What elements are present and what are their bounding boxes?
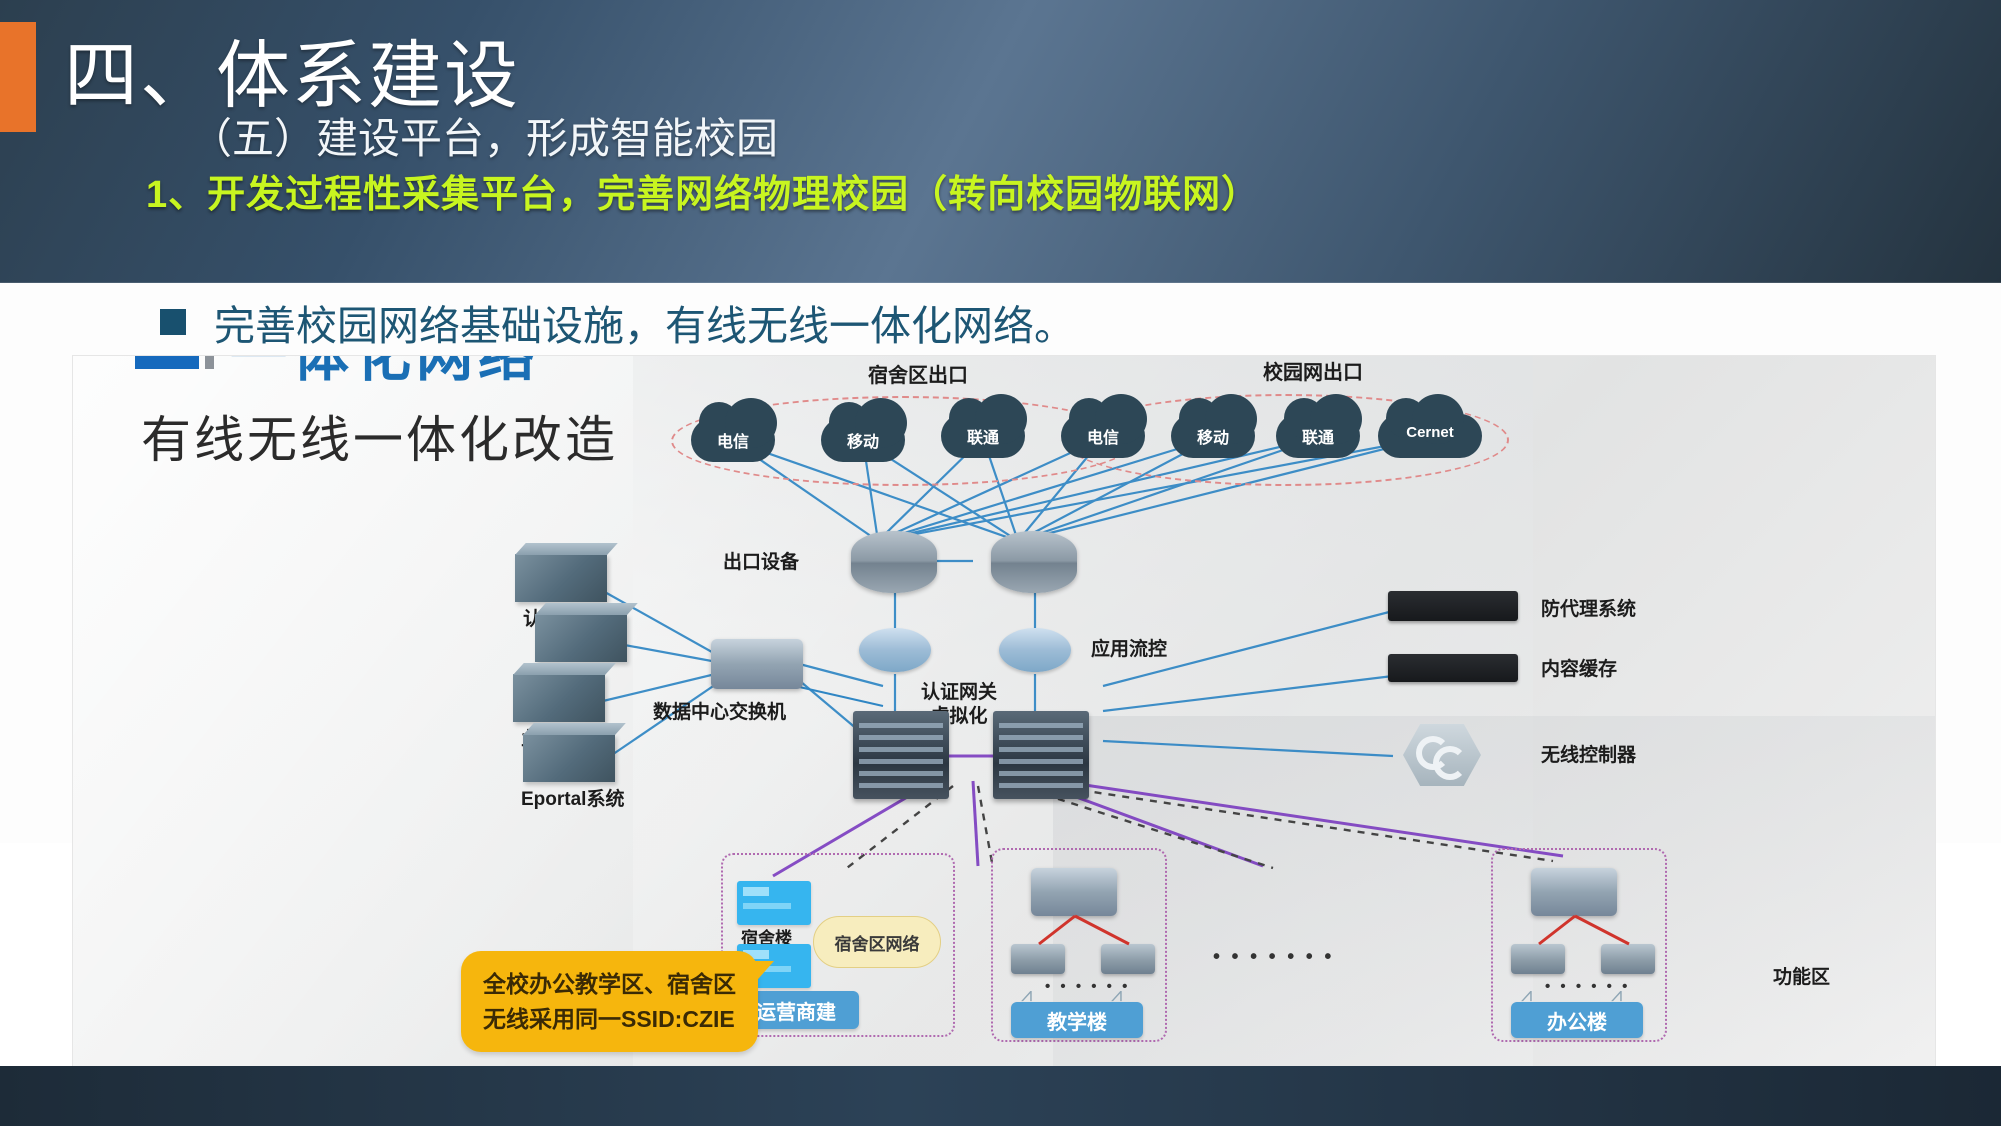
- isp-label: 联通: [1276, 424, 1360, 448]
- brand-title: 一体化网络: [230, 355, 540, 392]
- caption-anti-proxy: 防代理系统: [1541, 598, 1636, 622]
- zone-label-dorm: 宿舍区出口: [868, 359, 968, 388]
- server-eportal: [523, 734, 615, 782]
- zone-separator-dots: • • • • • • •: [1213, 946, 1334, 969]
- egress-router-2: [991, 531, 1077, 593]
- network-diagram: 一体化网络 有线无线一体化改造 宿舍区出口 校园网出口 电信 移动 联通 电信 …: [72, 355, 1936, 1069]
- isp-label: Cernet: [1378, 424, 1482, 441]
- slide-footer: [0, 1066, 2001, 1126]
- core-switch-1: [853, 711, 949, 799]
- isp-cloud-campus-2: 联通: [1276, 414, 1360, 458]
- isp-cloud-dorm-1: 移动: [821, 418, 905, 462]
- slide-header: 四、体系建设 （五）建设平台，形成智能校园 1、开发过程性采集平台，完善网络物理…: [0, 0, 2001, 283]
- header-accent-bar: [0, 22, 36, 132]
- isp-cloud-dorm-0: 电信: [691, 418, 775, 462]
- caption-egress-device: 出口设备: [723, 551, 799, 575]
- isp-cloud-campus-0: 电信: [1061, 414, 1145, 458]
- egress-router-1: [851, 531, 937, 593]
- auth-gw-line1: 认证网关: [921, 682, 997, 703]
- bullet-text: 完善校园网络基础设施，有线无线一体化网络。: [214, 292, 1075, 352]
- bullet-square-icon: [160, 309, 186, 335]
- caption-server-eportal: Eportal系统: [521, 788, 631, 812]
- caption-wlc: 无线控制器: [1541, 744, 1636, 768]
- anti-proxy-appliance: [1388, 591, 1518, 621]
- caption-function-area: 功能区: [1773, 966, 1830, 990]
- isp-cloud-campus-3: Cernet: [1378, 414, 1482, 458]
- isp-label: 移动: [821, 428, 905, 452]
- content-cache-appliance: [1388, 654, 1518, 682]
- caption-app-control: 应用流控: [1091, 638, 1167, 662]
- dorm-building-1: [737, 881, 811, 925]
- core-switch-2: [993, 711, 1089, 799]
- office-zone-button[interactable]: 办公楼: [1511, 1002, 1643, 1038]
- isp-label: 电信: [691, 428, 775, 452]
- app-control-device-1: [859, 628, 931, 672]
- callout-line-1: 全校办公教学区、宿舍区: [483, 967, 736, 1002]
- server-business: [513, 674, 605, 722]
- caption-content-cache: 内容缓存: [1541, 658, 1617, 682]
- server-ops: [535, 614, 627, 662]
- highlight-line: 1、开发过程性采集平台，完善网络物理校园（转向校园物联网）: [146, 163, 1260, 218]
- isp-label: 移动: [1171, 424, 1255, 448]
- server-auth: [515, 554, 607, 602]
- isp-cloud-dorm-2: 联通: [941, 414, 1025, 458]
- zone-label-campus: 校园网出口: [1263, 356, 1363, 385]
- ssid-callout: 全校办公教学区、宿舍区 无线采用同一SSID:CZIE: [461, 951, 758, 1052]
- brand-bar-icon: [205, 355, 214, 369]
- brand-square-icon: [135, 355, 199, 369]
- page-subtitle: （五）建设平台，形成智能校园: [190, 105, 778, 166]
- dorm-network-cloud: 宿舍区网络: [813, 916, 941, 968]
- slide: 四、体系建设 （五）建设平台，形成智能校园 1、开发过程性采集平台，完善网络物理…: [0, 0, 2001, 1126]
- callout-line-2: 无线采用同一SSID:CZIE: [483, 1002, 736, 1037]
- isp-cloud-campus-1: 移动: [1171, 414, 1255, 458]
- brand-subtitle: 有线无线一体化改造: [141, 400, 618, 472]
- app-control-device-2: [999, 628, 1071, 672]
- isp-label: 联通: [941, 424, 1025, 448]
- data-center-switch: [711, 639, 803, 689]
- bullet-row: 完善校园网络基础设施，有线无线一体化网络。: [160, 292, 1075, 352]
- teaching-zone-button[interactable]: 教学楼: [1011, 1002, 1143, 1038]
- caption-dc-switch: 数据中心交换机: [653, 701, 786, 725]
- isp-label: 电信: [1061, 424, 1145, 448]
